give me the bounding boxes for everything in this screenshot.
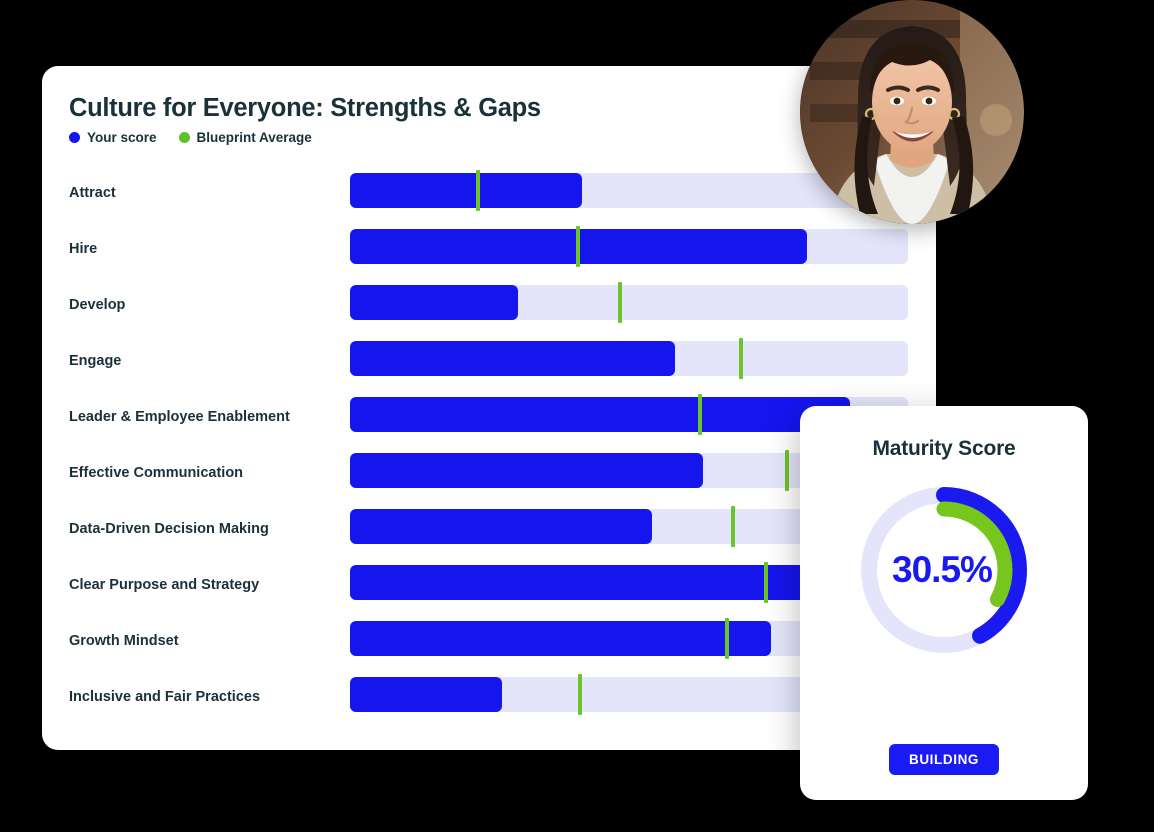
green-dot-icon <box>179 132 190 143</box>
bar-row-label: Leader & Employee Enablement <box>69 408 359 426</box>
bar-row: Hire <box>42 229 936 285</box>
bar-marker-blueprint-average <box>764 562 768 603</box>
bar-fill-your-score <box>350 341 675 376</box>
bar-marker-blueprint-average <box>578 674 582 715</box>
bar-row-label: Inclusive and Fair Practices <box>69 688 359 706</box>
maturity-score-title: Maturity Score <box>800 437 1088 461</box>
bar-fill-your-score <box>350 397 850 432</box>
avatar <box>800 0 1024 224</box>
bar-row-label: Effective Communication <box>69 464 359 482</box>
bar-row-label: Data-Driven Decision Making <box>69 520 359 538</box>
chart-legend: Your score Blueprint Average <box>69 130 312 145</box>
bar-marker-blueprint-average <box>476 170 480 211</box>
bar-marker-blueprint-average <box>725 618 729 659</box>
legend-item-your-score: Your score <box>69 130 157 145</box>
bar-fill-your-score <box>350 453 703 488</box>
page-title: Culture for Everyone: Strengths & Gaps <box>69 94 541 123</box>
bar-marker-blueprint-average <box>576 226 580 267</box>
bar-row: Develop <box>42 285 936 341</box>
blue-dot-icon <box>69 132 80 143</box>
bar-row-label: Growth Mindset <box>69 632 359 650</box>
bar-row-label: Engage <box>69 352 359 370</box>
bar-row-label: Hire <box>69 240 359 258</box>
bar-row-label: Develop <box>69 296 359 314</box>
bar-row-label: Clear Purpose and Strategy <box>69 576 359 594</box>
bar-track <box>350 229 908 264</box>
legend-label-blueprint-average: Blueprint Average <box>197 130 312 145</box>
screenshot-stage: Culture for Everyone: Strengths & Gaps Y… <box>0 0 1154 832</box>
legend-item-blueprint-average: Blueprint Average <box>179 130 312 145</box>
maturity-score-card: Maturity Score 30.5% BUILDING <box>800 406 1088 800</box>
bar-track <box>350 341 908 376</box>
legend-label-your-score: Your score <box>87 130 157 145</box>
maturity-gauge: 30.5% <box>856 482 1032 658</box>
bar-fill-your-score <box>350 285 518 320</box>
maturity-score-value: 30.5% <box>856 482 1032 658</box>
status-badge[interactable]: BUILDING <box>889 744 999 775</box>
bar-marker-blueprint-average <box>785 450 789 491</box>
bar-marker-blueprint-average <box>731 506 735 547</box>
bar-track <box>350 285 908 320</box>
bar-marker-blueprint-average <box>739 338 743 379</box>
bar-fill-your-score <box>350 509 652 544</box>
bar-fill-your-score <box>350 173 582 208</box>
bar-marker-blueprint-average <box>618 282 622 323</box>
bar-fill-your-score <box>350 621 771 656</box>
bar-fill-your-score <box>350 677 502 712</box>
bar-row-label: Attract <box>69 184 359 202</box>
bar-marker-blueprint-average <box>698 394 702 435</box>
bar-row: Engage <box>42 341 936 397</box>
bar-row: Attract <box>42 173 936 229</box>
